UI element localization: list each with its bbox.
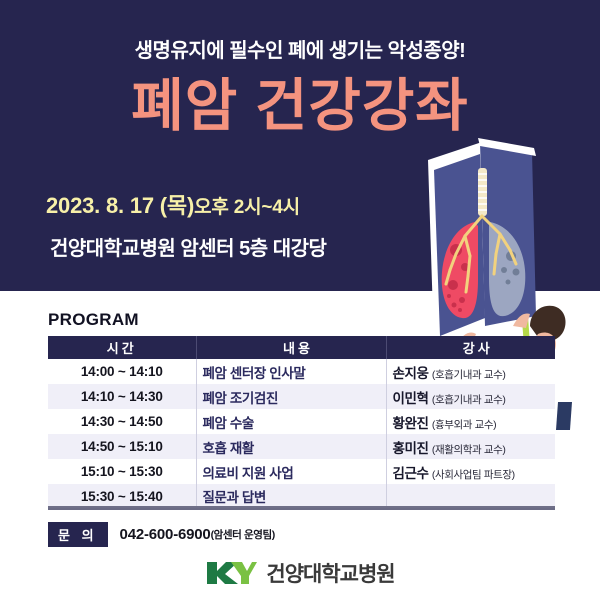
- table-row: 14:50 ~ 15:10 호흡 재활 홍미진 (재활의학과 교수): [48, 434, 555, 459]
- lecturer-name: 홍미진: [393, 441, 429, 456]
- footer-logo-block: 건양대학교병원: [0, 558, 600, 588]
- cell-topic: 폐암 조기검진: [196, 384, 386, 409]
- table-row: 15:10 ~ 15:30 의료비 지원 사업 김근수 (사회사업팀 파트장): [48, 459, 555, 484]
- trachea-rings: [478, 174, 487, 210]
- cell-topic: 폐암 센터장 인사말: [196, 359, 386, 384]
- table-bottom-rule: [48, 506, 555, 508]
- cell-time: 15:10 ~ 15:30: [48, 459, 196, 484]
- contact-department: (암센터 운영팀): [211, 527, 275, 542]
- lecturer-name: 황완진: [393, 416, 429, 431]
- lecturer-name: 손지웅: [393, 366, 429, 381]
- cell-time: 14:30 ~ 14:50: [48, 409, 196, 434]
- event-date: 2023. 8. 17 (목): [46, 193, 194, 218]
- contact-block: 문 의 042-600-6900 (암센터 운영팀): [48, 522, 275, 547]
- cell-topic: 의료비 지원 사업: [196, 459, 386, 484]
- poster-root: 생명유지에 필수인 폐에 생기는 악성종양! 폐암 건강강좌 2023. 8. …: [0, 0, 600, 600]
- hospital-name: 건양대학교병원: [266, 558, 394, 588]
- column-header-topic: 내용: [196, 336, 386, 359]
- lecturer-name: 김근수: [393, 466, 429, 481]
- cell-time: 14:10 ~ 14:30: [48, 384, 196, 409]
- lecturer-name: 이민혁: [393, 391, 429, 406]
- lecturer-title: (사회사업팀 파트장): [432, 469, 515, 481]
- program-table: 시간 내용 강사 14:00 ~ 14:10 폐암 센터장 인사말 손지웅 (호…: [48, 336, 555, 510]
- lecturer-title: (흉부외과 교수): [432, 419, 496, 431]
- table-row: 14:00 ~ 14:10 폐암 센터장 인사말 손지웅 (호흡기내과 교수): [48, 359, 555, 384]
- cell-lecturer: 손지웅 (호흡기내과 교수): [386, 359, 555, 384]
- cell-lecturer: 김근수 (사회사업팀 파트장): [386, 459, 555, 484]
- program-label: PROGRAM: [48, 310, 139, 330]
- cell-time: 14:00 ~ 14:10: [48, 359, 196, 384]
- table-row: 14:10 ~ 14:30 폐암 조기검진 이민혁 (호흡기내과 교수): [48, 384, 555, 409]
- cell-lecturer: 홍미진 (재활의학과 교수): [386, 434, 555, 459]
- contact-phone: 042-600-6900: [120, 526, 211, 543]
- lecturer-title: (호흡기내과 교수): [432, 394, 506, 406]
- ky-logo-icon: [205, 559, 257, 587]
- column-header-lecturer: 강사: [386, 336, 555, 359]
- cell-topic: 폐암 수술: [196, 409, 386, 434]
- cell-time: 14:50 ~ 15:10: [48, 434, 196, 459]
- column-header-time: 시간: [48, 336, 196, 359]
- lecturer-title: (재활의학과 교수): [432, 444, 506, 456]
- cell-topic: 호흡 재활: [196, 434, 386, 459]
- table-header-row: 시간 내용 강사: [48, 336, 555, 359]
- hero-subtitle: 생명유지에 필수인 폐에 생기는 악성종양!: [0, 34, 600, 63]
- lecturer-title: (호흡기내과 교수): [432, 369, 506, 381]
- event-venue: 건양대학교병원 암센터 5층 대강당: [50, 232, 326, 261]
- doctor-leg-right: [556, 402, 572, 430]
- cell-lecturer: 황완진 (흉부외과 교수): [386, 409, 555, 434]
- event-time: 오후 2시~4시: [194, 197, 300, 218]
- table-row: 14:30 ~ 14:50 폐암 수술 황완진 (흉부외과 교수): [48, 409, 555, 434]
- event-dateline: 2023. 8. 17 (목)오후 2시~4시: [46, 188, 300, 220]
- contact-badge: 문 의: [48, 522, 108, 547]
- cell-lecturer: 이민혁 (호흡기내과 교수): [386, 384, 555, 409]
